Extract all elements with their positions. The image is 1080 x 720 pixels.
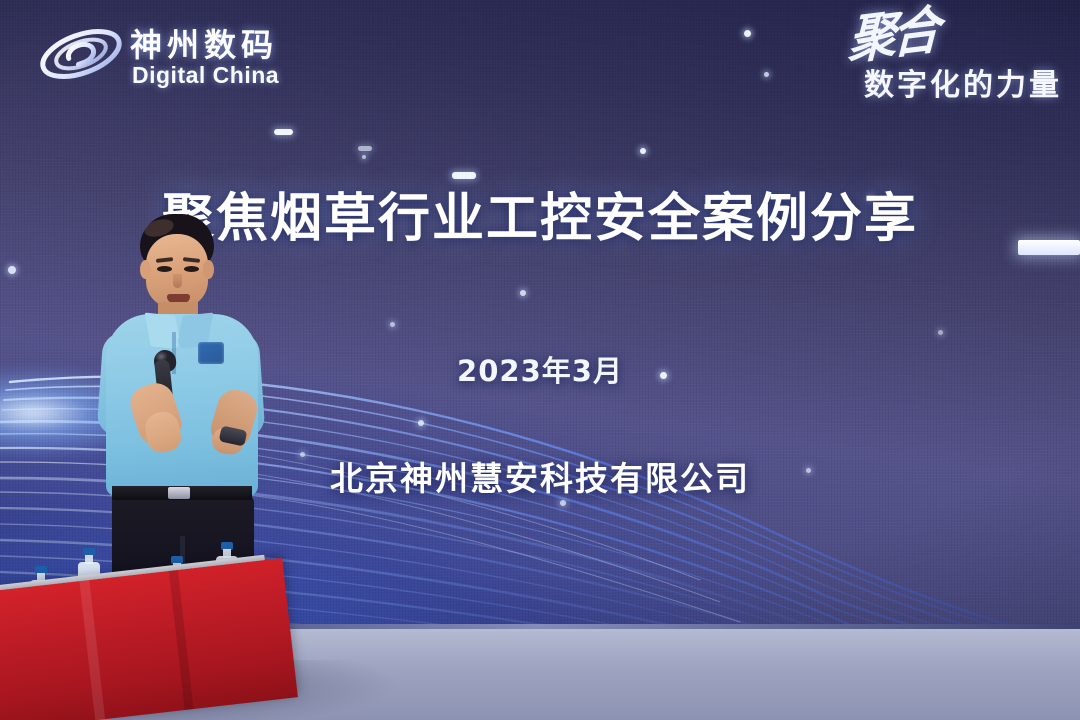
digital-china-logo: 神州数码 Digital China xyxy=(38,16,308,98)
speaker-eye-right xyxy=(184,266,199,272)
logo-english-name: Digital China xyxy=(132,62,279,89)
speaker-nose xyxy=(173,274,182,288)
speaker-ear-left xyxy=(140,260,151,279)
cloth-fold xyxy=(79,580,105,720)
digital-china-swoosh-icon xyxy=(38,18,124,90)
speaker-ear-right xyxy=(203,260,214,279)
particle-dot xyxy=(764,72,769,77)
particle-dot xyxy=(362,155,366,159)
cloth-fold xyxy=(169,570,194,710)
particle-dot xyxy=(744,30,751,37)
logo-chinese-name: 神州数码 xyxy=(130,20,278,66)
slogan-subtitle: 数字化的力量 xyxy=(864,70,1062,102)
event-slogan: 聚合 数字化的力量 xyxy=(802,10,1062,110)
conference-stage-photo: 神州数码 Digital China 聚合 数字化的力量 聚焦烟草行业工控安全案… xyxy=(0,0,1080,720)
slogan-calligraphy: 聚合 xyxy=(847,4,936,67)
particle-dot xyxy=(390,322,395,327)
screen-edge-highlight-bar xyxy=(1018,240,1080,255)
particle-dash xyxy=(358,146,372,151)
particle-dot xyxy=(520,290,526,296)
speaker-belt-buckle xyxy=(168,487,190,499)
particle-dot xyxy=(8,266,16,274)
speaker-chest-logo xyxy=(198,342,224,364)
particle-dash xyxy=(274,129,293,135)
particle-dot xyxy=(640,148,646,154)
speaker-eye-left xyxy=(157,266,172,272)
